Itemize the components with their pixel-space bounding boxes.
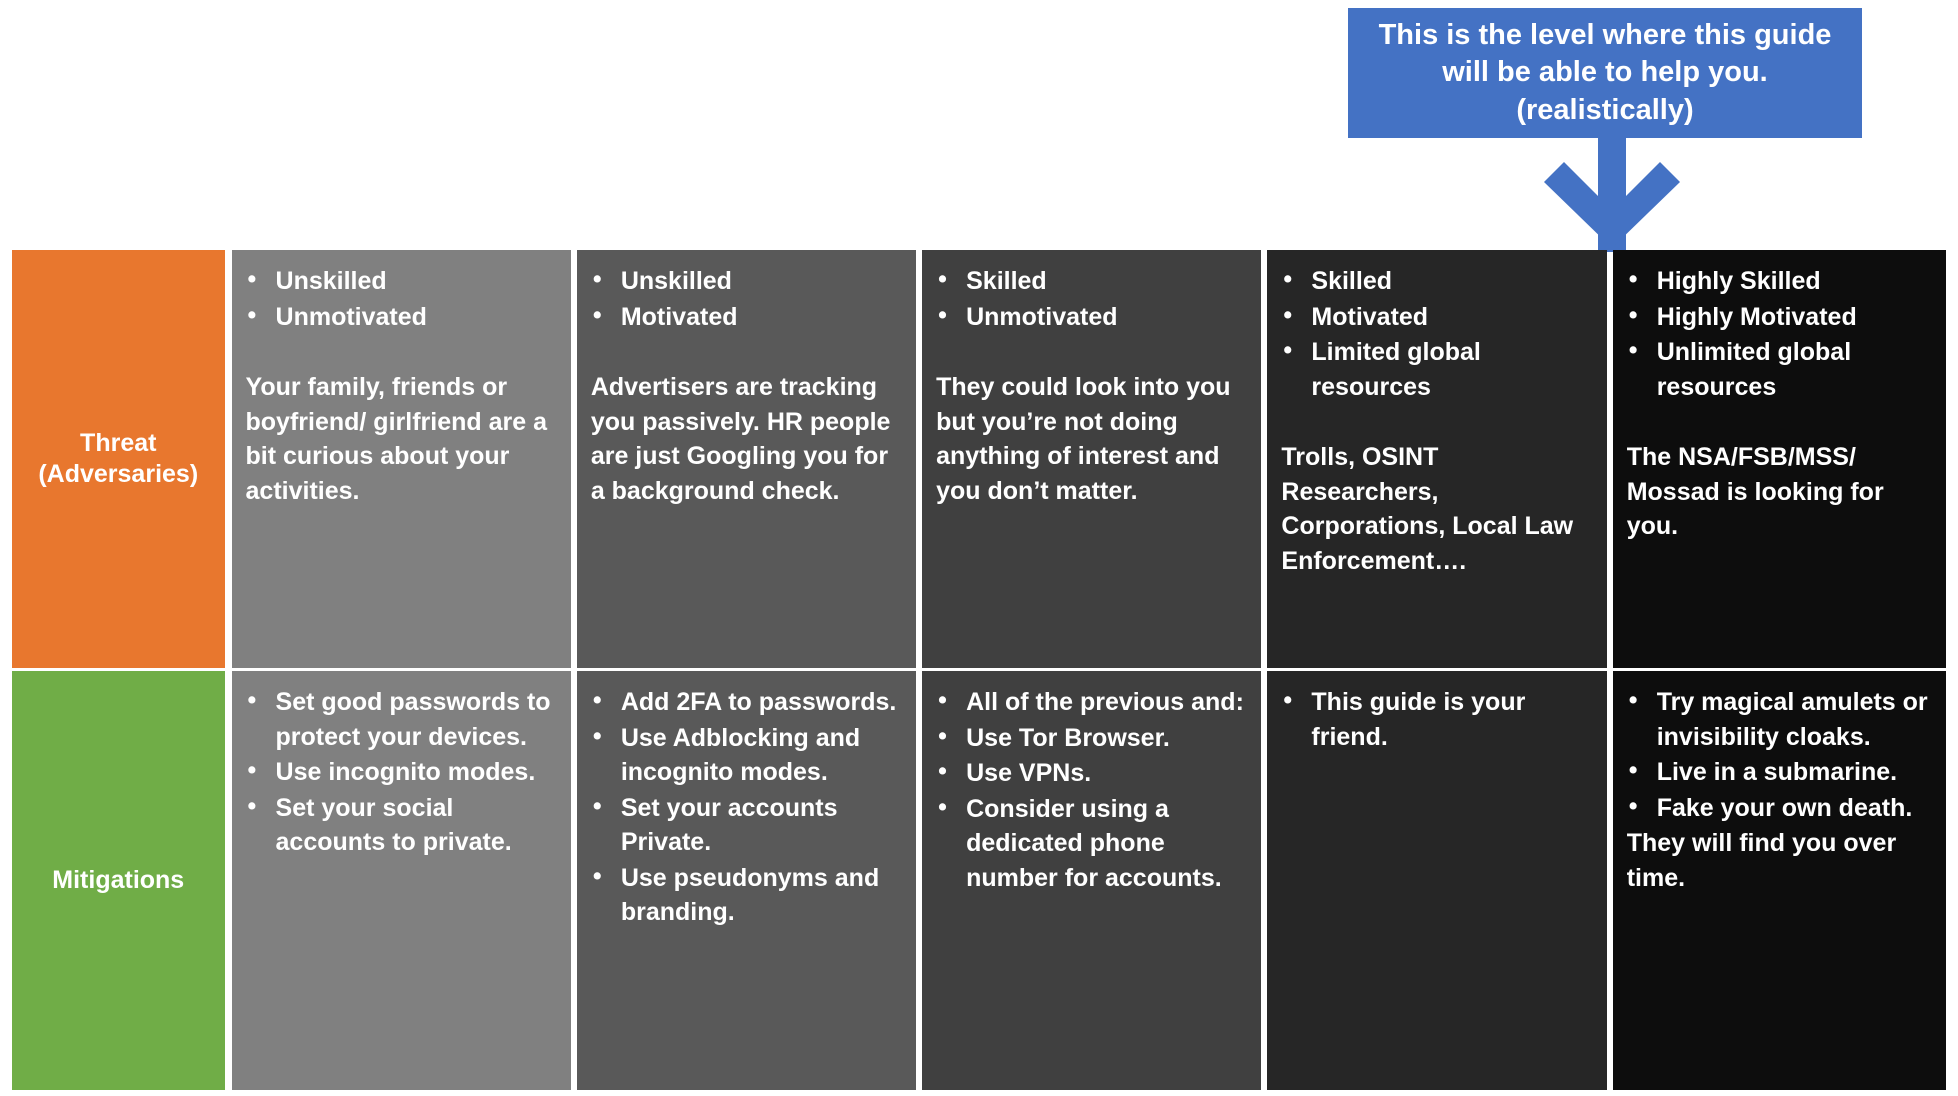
threat-bullets-col1: Unskilled Unmotivated	[246, 264, 557, 334]
list-item: Highly Motivated	[1657, 300, 1932, 335]
row-label-threat-line1: Threat	[80, 429, 156, 457]
threat-cell-col2: Unskilled Motivated Advertisers are trac…	[577, 250, 916, 668]
row-label-mitigations-text: Mitigations	[52, 865, 184, 896]
list-item: This guide is your friend.	[1311, 685, 1592, 754]
mitigations-bullets-col4: This guide is your friend.	[1281, 685, 1592, 754]
spacer	[1281, 405, 1592, 440]
callout-line-3: (realistically)	[1516, 92, 1693, 129]
list-item: Unlimited global resources	[1657, 335, 1932, 404]
list-item: Motivated	[1311, 300, 1592, 335]
list-item: Use VPNs.	[966, 756, 1247, 791]
mitigations-cell-col4: This guide is your friend.	[1267, 671, 1606, 1090]
list-item: Skilled	[1311, 264, 1592, 299]
mitigations-bullets-col1: Set good passwords to protect your devic…	[246, 685, 557, 860]
mitigations-cell-col3: All of the previous and: Use Tor Browser…	[922, 671, 1261, 1090]
threat-cell-col4: Skilled Motivated Limited global resourc…	[1267, 250, 1606, 668]
mitigations-cell-col2: Add 2FA to passwords. Use Adblocking and…	[577, 671, 916, 1090]
list-item: Live in a submarine.	[1657, 755, 1932, 790]
list-item: Add 2FA to passwords.	[621, 685, 902, 720]
threat-cell-col5: Highly Skilled Highly Motivated Unlimite…	[1613, 250, 1946, 668]
list-item: Consider using a dedicated phone number …	[966, 792, 1247, 896]
list-item: Use Adblocking and incognito modes.	[621, 721, 902, 790]
threat-model-matrix: Threat (Adversaries) Unskilled Unmotivat…	[12, 250, 1946, 1090]
list-item: Fake your own death.	[1657, 791, 1932, 826]
threat-bullets-col2: Unskilled Motivated	[591, 264, 902, 334]
mitigations-bullets-col3: All of the previous and: Use Tor Browser…	[936, 685, 1247, 895]
list-item: Try magical amulets or invisibility cloa…	[1657, 685, 1932, 754]
threat-cell-col3: Skilled Unmotivated They could look into…	[922, 250, 1261, 668]
row-label-threat-line2: (Adversaries)	[38, 460, 198, 488]
list-item: Unskilled	[621, 264, 902, 299]
list-item: Skilled	[966, 264, 1247, 299]
mitigations-cell-col1: Set good passwords to protect your devic…	[232, 671, 571, 1090]
mitigations-paragraph-col5: They will find you over time.	[1627, 826, 1932, 895]
threat-bullets-col4: Skilled Motivated Limited global resourc…	[1281, 264, 1592, 404]
threat-paragraph-col4: Trolls, OSINT Researchers, Corporations,…	[1281, 440, 1592, 578]
row-label-threat: Threat (Adversaries)	[12, 250, 225, 668]
mitigations-row: Mitigations Set good passwords to protec…	[12, 671, 1946, 1090]
list-item: Limited global resources	[1311, 335, 1592, 404]
list-item: Unskilled	[276, 264, 557, 299]
list-item: Use Tor Browser.	[966, 721, 1247, 756]
threat-cell-col1: Unskilled Unmotivated Your family, frien…	[232, 250, 571, 668]
threat-bullets-col3: Skilled Unmotivated	[936, 264, 1247, 334]
threat-bullets-col5: Highly Skilled Highly Motivated Unlimite…	[1627, 264, 1932, 404]
list-item: Motivated	[621, 300, 902, 335]
down-arrow-icon	[1532, 130, 1692, 252]
row-label-mitigations: Mitigations	[12, 671, 225, 1090]
row-label-threat-text: Threat (Adversaries)	[38, 428, 198, 491]
mitigations-bullets-col5: Try magical amulets or invisibility cloa…	[1627, 685, 1932, 825]
spacer	[936, 335, 1247, 370]
spacer	[591, 335, 902, 370]
list-item: Unmotivated	[966, 300, 1247, 335]
threat-paragraph-col5: The NSA/FSB/MSS/ Mossad is looking for y…	[1627, 440, 1932, 544]
list-item: All of the previous and:	[966, 685, 1247, 720]
list-item: Unmotivated	[276, 300, 557, 335]
list-item: Use pseudonyms and branding.	[621, 861, 902, 930]
callout-line-2: will be able to help you.	[1442, 54, 1768, 91]
list-item: Set good passwords to protect your devic…	[276, 685, 557, 754]
callout-line-1: This is the level where this guide	[1379, 17, 1832, 54]
threat-paragraph-col1: Your family, friends or boyfriend/ girlf…	[246, 370, 557, 508]
threat-paragraph-col3: They could look into you but you’re not …	[936, 370, 1247, 508]
list-item: Set your accounts Private.	[621, 791, 902, 860]
spacer	[246, 335, 557, 370]
threat-row: Threat (Adversaries) Unskilled Unmotivat…	[12, 250, 1946, 668]
callout-box: This is the level where this guide will …	[1348, 8, 1862, 138]
mitigations-cell-col5: Try magical amulets or invisibility cloa…	[1613, 671, 1946, 1090]
list-item: Set your social accounts to private.	[276, 791, 557, 860]
mitigations-bullets-col2: Add 2FA to passwords. Use Adblocking and…	[591, 685, 902, 930]
callout-arrow	[1532, 130, 1692, 252]
list-item: Highly Skilled	[1657, 264, 1932, 299]
list-item: Use incognito modes.	[276, 755, 557, 790]
spacer	[1627, 405, 1932, 440]
threat-paragraph-col2: Advertisers are tracking you passively. …	[591, 370, 902, 508]
